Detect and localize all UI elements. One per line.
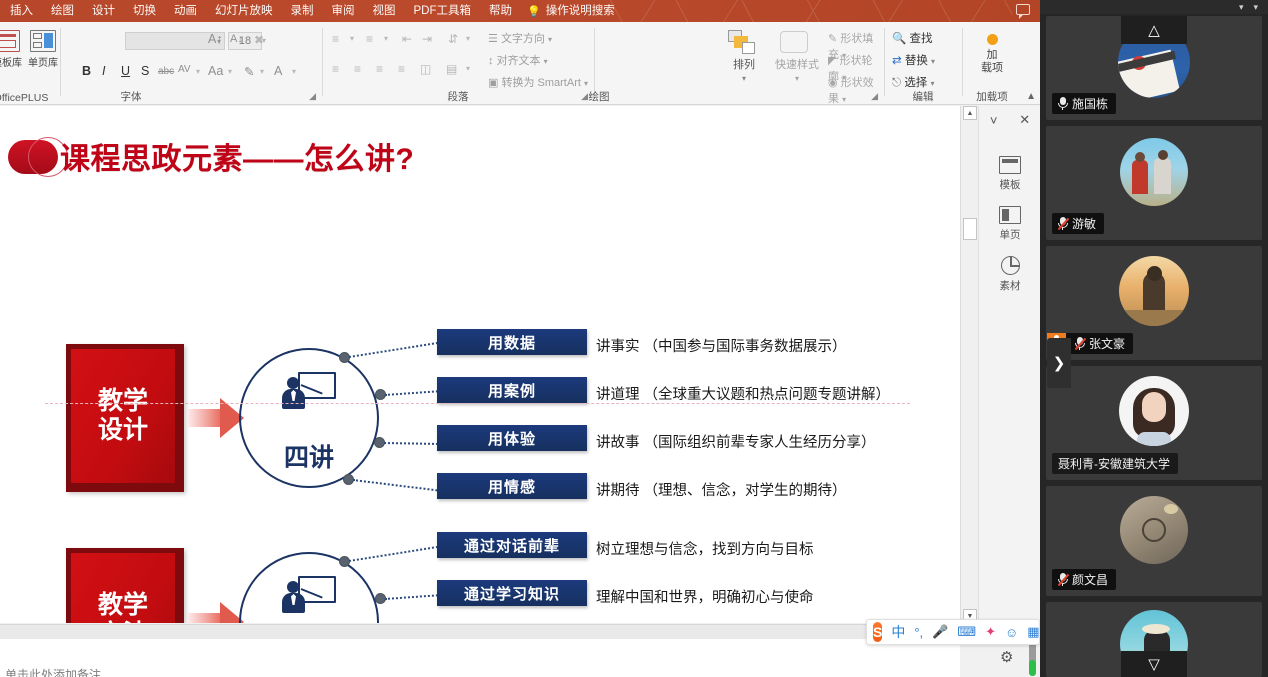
page-title[interactable]: 课程思政元素——怎么讲?: [60, 134, 414, 178]
columns-icon[interactable]: ◫: [420, 62, 431, 76]
tab-record[interactable]: 录制: [282, 0, 323, 22]
participant-name-badge: 施国栋: [1052, 93, 1116, 114]
tab-slideshow[interactable]: 幻灯片放映: [206, 0, 282, 22]
ring-label-1: 四讲: [239, 438, 379, 474]
ribbon-body: 模板库 单页库 OfficePLUS ▾ 18 ▾: [0, 22, 1040, 105]
chevron-down-icon: ▾: [584, 79, 588, 88]
ime-chinese-mode-button[interactable]: 中: [891, 622, 905, 642]
text-direction-button[interactable]: ☰ 文字方向 ▾: [488, 30, 552, 46]
font-dialog-launcher[interactable]: ◢: [309, 91, 316, 102]
align-right-icon[interactable]: ≡: [376, 62, 383, 76]
ime-punctuation-button[interactable]: °,: [914, 625, 923, 640]
participant-name-badge: 颜文昌: [1052, 569, 1116, 590]
avatar: [1119, 256, 1189, 326]
participant-name: 游敏: [1072, 215, 1096, 232]
participant-tile[interactable]: 聂利青-安徽建筑大学: [1046, 366, 1262, 480]
template-library-icon: [0, 30, 20, 52]
sogou-logo-icon[interactable]: S: [873, 622, 882, 642]
chevron-down-icon: ▾: [548, 35, 552, 44]
align-text-icon: ↕: [488, 55, 494, 67]
clear-formatting-icon[interactable]: ✖: [254, 33, 264, 47]
addins-group-label: 加载项: [964, 89, 1020, 104]
scrollbar-thumb[interactable]: [963, 218, 977, 240]
slide-edit-area[interactable]: 课程思政元素——怎么讲? 教学 设计 四讲: [0, 106, 960, 623]
material-pie-icon: [1001, 256, 1020, 275]
quick-styles-icon: [770, 30, 824, 56]
panel-header: ˅ ✕: [979, 106, 1040, 134]
close-icon[interactable]: ✕: [1019, 112, 1030, 128]
tab-view[interactable]: 视图: [364, 0, 405, 22]
addins-icon: [987, 34, 998, 45]
addins-button[interactable]: 加 载项: [964, 34, 1020, 74]
find-button[interactable]: 🔍 查找: [892, 30, 933, 46]
tab-design[interactable]: 设计: [83, 0, 124, 22]
desc-1-4: 讲期待 （理想、信念，对学生的期待）: [596, 479, 847, 500]
bold-button[interactable]: B: [82, 64, 91, 78]
source-box-1-line2: 设计: [98, 416, 148, 446]
ribbon-tab-bar: 插入 绘图 设计 切换 动画 幻灯片放映 录制 审阅 视图 PDF工具箱 帮助 …: [0, 0, 1040, 22]
ribbon-decoration: [592, 0, 1012, 22]
convert-to-smartart-button[interactable]: ▣ 转换为 SmartArt ▾: [488, 74, 588, 90]
desc-1-1: 讲事实 （中国参与国际事务数据展示）: [596, 335, 847, 356]
application-window: 插入 绘图 设计 切换 动画 幻灯片放映 录制 审阅 视图 PDF工具箱 帮助 …: [0, 0, 1268, 677]
panel-item-template[interactable]: 模板: [979, 156, 1040, 192]
comment-icon[interactable]: [1016, 4, 1030, 15]
ribbon-group-addins: 加 载项 加载项: [964, 22, 1020, 105]
source-box-2-line1: 教学: [98, 591, 148, 621]
chevron-down-icon[interactable]: ▾: [1253, 2, 1258, 13]
arrow-1: [188, 398, 244, 438]
teacher-presenting-icon: [282, 576, 336, 616]
participant-tile[interactable]: 张文豪: [1046, 246, 1262, 360]
chevron-down-icon: ▾: [544, 57, 548, 66]
participant-name: 颜文昌: [1072, 571, 1108, 588]
meeting-participants-panel: ▾ ▾ △ 施国栋: [1040, 0, 1268, 677]
replace-button[interactable]: ⇄ 替换 ▾: [892, 52, 935, 68]
line-spacing-icon[interactable]: ⇵: [448, 32, 458, 46]
shape-fill-icon: ✎: [828, 33, 837, 45]
highlight-chevron-icon[interactable]: ▾: [260, 67, 264, 76]
mic-off-icon: [1057, 573, 1068, 587]
lightbulb-icon: 💡: [527, 5, 541, 18]
columns-chevron-icon[interactable]: ▾: [466, 64, 470, 73]
panel-item-single-page[interactable]: 单页: [979, 206, 1040, 242]
panel-item-material-label: 素材: [1000, 280, 1021, 292]
addins-label-1: 加: [987, 49, 998, 61]
participant-tile[interactable]: ▽: [1046, 602, 1262, 677]
drawing-dialog-launcher[interactable]: ◢: [871, 91, 878, 102]
panel-item-single-page-label: 单页: [1000, 229, 1021, 241]
participant-name: 张文豪: [1089, 335, 1125, 352]
template-library-label: 模板库: [0, 58, 22, 69]
participant-tile[interactable]: 颜文昌: [1046, 486, 1262, 596]
select-button[interactable]: ⎋ 选择 ▾: [892, 74, 935, 90]
tag-1-1[interactable]: 用数据: [437, 329, 587, 355]
officeplus-side-panel: ˅ ✕ 模板 单页 素材: [978, 106, 1040, 623]
tab-review[interactable]: 审阅: [323, 0, 364, 22]
participant-name: 聂利青-安徽建筑大学: [1058, 455, 1170, 472]
scroll-up-chevron-icon[interactable]: △: [1121, 16, 1187, 44]
numbering-chevron-icon[interactable]: ▾: [384, 34, 388, 43]
text-direction-grid-icon[interactable]: ▤: [446, 62, 457, 76]
change-case-chevron-icon[interactable]: ▾: [228, 67, 232, 76]
source-box-2-line2: 方法: [98, 620, 148, 623]
ribbon-group-font: ▾ 18 ▾ A↑ A↓ ✖ B I U S abc AV ▾ Aa ▾ ✎ ▾…: [62, 22, 320, 105]
participant-tile[interactable]: △ 施国栋: [1046, 16, 1262, 120]
participant-name-badge: 游敏: [1052, 213, 1104, 234]
gear-icon[interactable]: ⚙: [1000, 648, 1013, 666]
character-spacing-button[interactable]: AV: [178, 64, 191, 75]
emoji-icon[interactable]: ☺: [1005, 625, 1018, 640]
chevron-down-icon[interactable]: ▾: [742, 74, 746, 83]
single-page-library-icon: [30, 30, 56, 52]
meeting-panel-header: ▾ ▾: [1040, 0, 1268, 14]
chevron-down-icon[interactable]: ▾: [1239, 2, 1244, 13]
notes-placeholder[interactable]: 单击此处添加备注: [5, 666, 101, 677]
tag-1-4[interactable]: 用情感: [437, 473, 587, 499]
arrange-button[interactable]: 排列 ▾: [722, 30, 766, 84]
avatar: [1120, 496, 1188, 564]
tag-1-2[interactable]: 用案例: [437, 377, 587, 403]
replace-icon: ⇄: [892, 55, 902, 67]
expression-icon[interactable]: ✦: [985, 624, 996, 640]
mic-icon[interactable]: 🎤: [932, 624, 948, 640]
search-icon: 🔍: [892, 33, 906, 45]
source-box-1-line1: 教学: [98, 387, 148, 417]
tab-help[interactable]: 帮助: [480, 0, 521, 22]
ime-toolbar[interactable]: S 中 °, 🎤 ⌨ ✦ ☺ ▦: [866, 619, 1040, 645]
tag-2-2[interactable]: 通过学习知识: [437, 580, 587, 606]
increase-font-size-icon[interactable]: A↑: [208, 32, 223, 46]
chevron-down-icon: ▾: [842, 95, 846, 104]
panel-item-material[interactable]: 素材: [979, 256, 1040, 293]
template-icon: [999, 156, 1021, 174]
slide-canvas[interactable]: 课程思政元素——怎么讲? 教学 设计 四讲: [0, 106, 956, 623]
tab-animations[interactable]: 动画: [165, 0, 206, 22]
italic-button[interactable]: I: [102, 64, 105, 78]
chevron-down-icon[interactable]: ▾: [795, 74, 799, 83]
arrange-icon: [722, 30, 766, 56]
desc-1-2: 讲道理 （全球重大议题和热点问题专题讲解）: [596, 383, 890, 404]
character-spacing-chevron-icon[interactable]: ▾: [196, 67, 200, 76]
arrow-2: [188, 602, 244, 623]
tab-pdf-toolbox[interactable]: PDF工具箱: [405, 0, 481, 22]
connector-1-3: [384, 442, 438, 445]
addins-label-2: 载项: [981, 62, 1003, 74]
mic-on-icon: [1057, 97, 1068, 111]
ribbon-group-drawing: ⇒ ⇓ ∾ { } ▲ ▼ ▾: [596, 22, 882, 105]
desc-2-2: 理解中国和世界，明确初心与使命: [596, 586, 814, 607]
align-text-button[interactable]: ↕ 对齐文本 ▾: [488, 52, 548, 68]
text-highlight-button[interactable]: ✎: [244, 64, 254, 79]
mic-off-icon: [1057, 217, 1068, 231]
arrange-label: 排列: [722, 56, 766, 72]
decrease-font-size-icon[interactable]: A↓: [230, 33, 243, 45]
participant-tile[interactable]: 游敏: [1046, 126, 1262, 240]
mic-off-icon: [1074, 337, 1085, 351]
scroll-up-icon[interactable]: ▲: [963, 106, 977, 120]
notes-divider: [0, 625, 960, 639]
change-case-button[interactable]: Aa: [208, 64, 223, 78]
single-page-library-button[interactable]: 单页库: [26, 30, 60, 69]
font-group-label: 字体: [2, 89, 260, 104]
collapse-ribbon-icon[interactable]: ▲: [1026, 91, 1036, 102]
chevron-down-icon[interactable]: ˅: [990, 113, 998, 128]
font-color-button[interactable]: A: [274, 64, 282, 78]
desc-1-3: 讲故事 （国际组织前辈专家人生经历分享）: [596, 431, 876, 452]
expand-panel-button[interactable]: ❯: [1047, 338, 1071, 388]
quick-styles-label: 快速样式: [770, 56, 824, 72]
bullets-icon[interactable]: ≡: [332, 32, 339, 46]
tell-me-search[interactable]: 操作说明搜索: [544, 0, 624, 22]
numbering-icon[interactable]: ≡: [366, 32, 373, 46]
quick-styles-button[interactable]: 快速样式 ▾: [770, 30, 824, 84]
keyboard-icon[interactable]: ⌨: [957, 624, 976, 640]
smartart-icon: ▣: [488, 77, 498, 89]
avatar: [1120, 138, 1188, 206]
chevron-down-icon: ▾: [931, 57, 935, 66]
section-divider: [45, 403, 910, 404]
source-box-2[interactable]: 教学 方法: [66, 548, 184, 623]
ribbon-group-editing: 🔍 查找 ⇄ 替换 ▾ ⎋ 选择 ▾ 编辑: [886, 22, 960, 105]
desc-2-1: 树立理想与信念，找到方向与目标: [596, 538, 814, 559]
tag-2-1[interactable]: 通过对话前辈: [437, 532, 587, 558]
increase-indent-icon[interactable]: ⇥: [422, 32, 432, 46]
panel-item-template-label: 模板: [1000, 179, 1021, 191]
underline-button[interactable]: U: [121, 64, 130, 78]
apps-icon[interactable]: ▦: [1027, 624, 1039, 640]
strikethrough-button[interactable]: abc: [158, 66, 174, 77]
font-color-chevron-icon[interactable]: ▾: [292, 67, 296, 76]
teacher-presenting-icon: [282, 372, 336, 412]
justify-icon[interactable]: ≡: [398, 62, 405, 76]
tab-insert[interactable]: 插入: [0, 0, 42, 22]
single-page-icon: [999, 206, 1021, 224]
single-page-library-label: 单页库: [28, 58, 58, 69]
ring-group-1[interactable]: 四讲: [239, 348, 379, 488]
slide-vertical-scrollbar[interactable]: ▲ ▼: [960, 106, 978, 623]
powerpoint-window: 插入 绘图 设计 切换 动画 幻灯片放映 录制 审阅 视图 PDF工具箱 帮助 …: [0, 0, 1040, 677]
participant-name: 施国栋: [1072, 95, 1108, 112]
shape-outline-icon: ◤: [828, 55, 836, 67]
decrease-indent-icon[interactable]: ⇤: [402, 32, 412, 46]
align-center-icon[interactable]: ≡: [354, 62, 361, 76]
participant-name-badge: 聂利青-安徽建筑大学: [1052, 453, 1178, 474]
template-library-button[interactable]: 模板库: [0, 30, 24, 69]
avatar: [1119, 376, 1189, 446]
connector-2-2: [385, 594, 438, 600]
notes-pane[interactable]: 单击此处添加备注: [0, 624, 960, 677]
shadow-button[interactable]: S: [141, 64, 149, 78]
cursor-select-icon: ⎋: [892, 77, 901, 89]
tag-1-3[interactable]: 用体验: [437, 425, 587, 451]
line-spacing-chevron-icon[interactable]: ▾: [466, 34, 470, 43]
chevron-down-icon: ▾: [931, 79, 935, 88]
tab-draw[interactable]: 绘图: [42, 0, 83, 22]
bullets-chevron-icon[interactable]: ▾: [350, 34, 354, 43]
text-direction-icon: ☰: [488, 33, 498, 45]
tab-transitions[interactable]: 切换: [124, 0, 165, 22]
connector-1-2: [385, 390, 438, 396]
editing-group-label: 编辑: [886, 89, 960, 104]
align-left-icon[interactable]: ≡: [332, 62, 339, 76]
scroll-down-chevron-icon[interactable]: ▽: [1121, 651, 1187, 677]
drawing-group-label: 绘图: [456, 89, 742, 104]
source-box-1[interactable]: 教学 设计: [66, 344, 184, 492]
shape-effects-icon: ◉: [828, 77, 838, 89]
ring-group-2[interactable]: 四行: [239, 552, 379, 623]
